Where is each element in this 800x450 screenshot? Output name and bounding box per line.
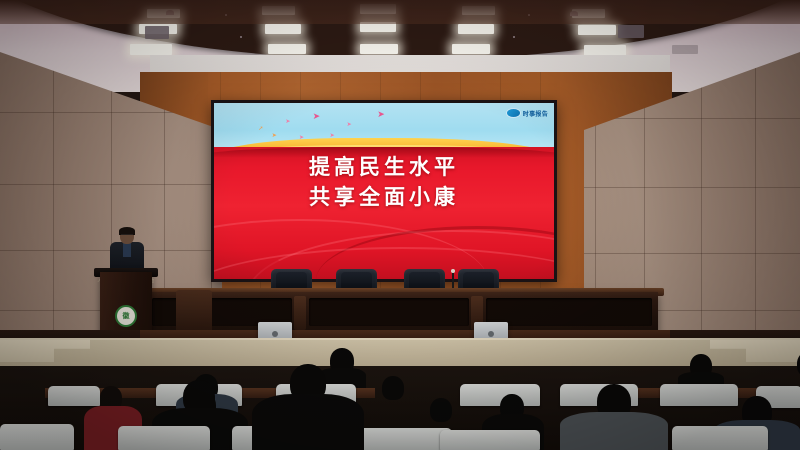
bird-icon: ➤	[347, 122, 352, 128]
audience-torso	[560, 412, 668, 450]
table-front-panel	[486, 298, 652, 326]
brand-mark-icon	[506, 108, 521, 118]
ceiling-light	[130, 44, 172, 55]
audience-seat[interactable]	[48, 386, 100, 406]
auditorium-photo: ➚ ➤ ➤ ➤ ➤ ➤ ➤ ➤ 提高民生水平 共享全面小康 时事报告	[0, 0, 800, 450]
glasses-icon	[121, 234, 133, 238]
ceiling-vent	[145, 26, 169, 39]
audience-head	[430, 398, 452, 422]
brand-label: 时事报告	[523, 109, 548, 118]
screen-headline-line1: 提高民生水平	[214, 152, 554, 182]
bird-icon: ➚	[258, 126, 263, 132]
ceiling-light	[578, 25, 616, 35]
ceiling-light	[265, 24, 301, 34]
audience-seat[interactable]	[660, 384, 738, 406]
led-screen-content: ➚ ➤ ➤ ➤ ➤ ➤ ➤ ➤ 提高民生水平 共享全面小康 时事报告	[214, 103, 554, 279]
audience-seat[interactable]	[0, 424, 74, 450]
table-pilaster	[294, 296, 306, 330]
podium-emblem-label: 徽	[123, 313, 130, 320]
bird-icon: ➤	[272, 133, 277, 139]
bird-icon: ➤	[285, 119, 290, 125]
ceiling-vent	[672, 45, 698, 54]
ceiling-light	[268, 44, 306, 54]
bird-icon: ➤	[313, 112, 321, 121]
audience-shoulders-foreground	[252, 394, 364, 450]
screen-brand-logo: 时事报告	[506, 108, 548, 118]
conference-table	[148, 292, 658, 334]
ceiling-sprinkler-icon	[240, 36, 242, 38]
table-front-panel	[309, 298, 469, 326]
audience-area	[0, 366, 800, 450]
ceiling-sprinkler-icon	[513, 36, 515, 38]
ceiling-dark-band	[0, 0, 800, 24]
ceiling-light	[458, 24, 494, 34]
bird-icon: ➤	[377, 110, 385, 119]
audience-seat[interactable]	[672, 426, 768, 450]
ceiling-light	[452, 44, 490, 54]
audience-seat[interactable]	[440, 430, 540, 450]
ceiling-light	[360, 44, 398, 54]
audience-seat[interactable]	[118, 426, 210, 450]
presenter-shirt	[123, 243, 131, 257]
led-screen[interactable]: ➚ ➤ ➤ ➤ ➤ ➤ ➤ ➤ 提高民生水平 共享全面小康 时事报告	[211, 100, 557, 282]
podium-emblem-icon: 徽	[115, 305, 137, 327]
screen-headline: 提高民生水平 共享全面小康	[214, 152, 554, 212]
screen-headline-line2: 共享全面小康	[214, 182, 554, 212]
side-chair[interactable]	[176, 290, 212, 332]
audience-seat[interactable]	[352, 428, 452, 450]
audience-head	[382, 376, 404, 400]
ceiling-vent	[618, 25, 644, 38]
